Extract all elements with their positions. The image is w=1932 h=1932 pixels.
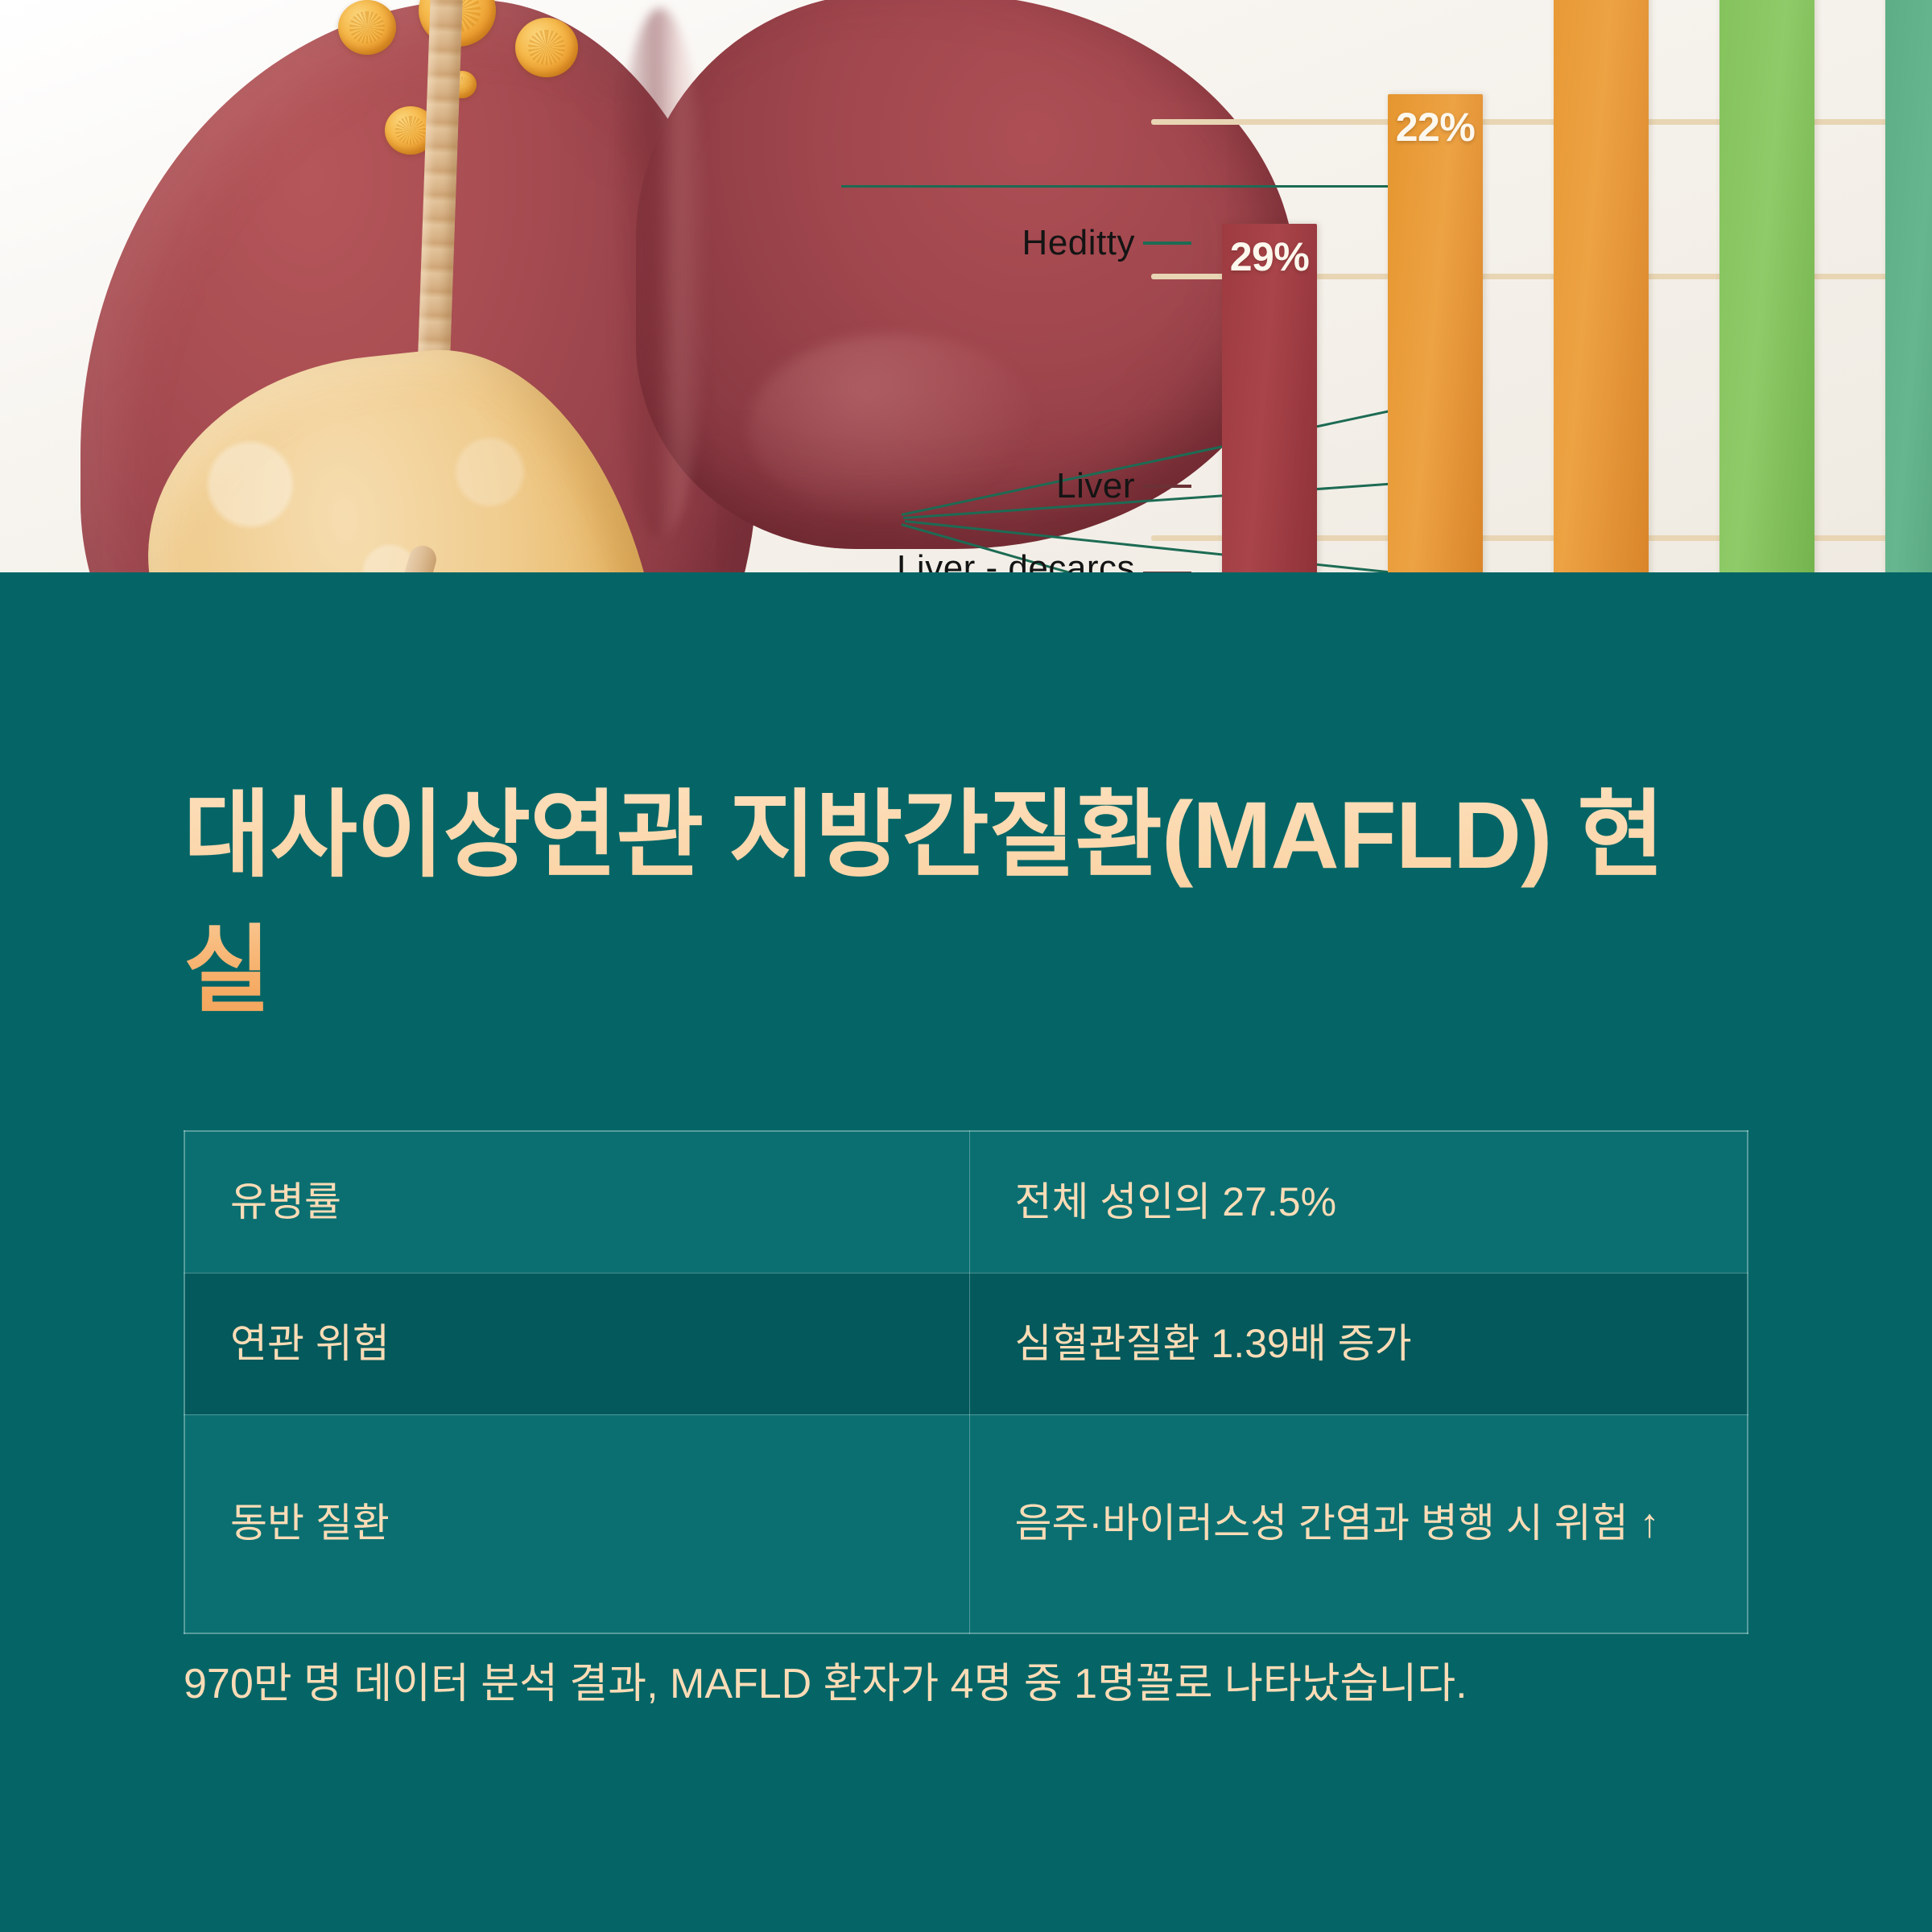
- table-row: 유병률 전체 성인의 27.5%: [184, 1131, 1748, 1273]
- table-cell-value: 음주·바이러스성 간염과 병행 시 위험 ↑: [969, 1414, 1748, 1633]
- page-title: 대사이상연관 지방간질환(MAFLD) 현실: [184, 769, 1713, 1038]
- fat-globule-icon: [515, 18, 578, 77]
- table-cell-value: 전체 성인의 27.5%: [969, 1131, 1748, 1273]
- bar-value-label: 29%: [1222, 233, 1317, 280]
- table-cell-key: 유병률: [184, 1131, 969, 1273]
- chart-bar: 3,%: [1885, 0, 1932, 572]
- chart-bar: 35%: [1719, 0, 1814, 572]
- chart-bar: 29%: [1554, 0, 1649, 572]
- bar-value-label: 22%: [1388, 104, 1483, 151]
- chart-bar: 29%: [1222, 224, 1317, 572]
- chart-bars: 29% 22% 29% 35% 3,%: [966, 0, 1932, 572]
- chart-bar: 22%: [1388, 94, 1483, 572]
- fat-globule-icon: [338, 0, 396, 55]
- chart-plot-area: Heditty Liver Liver - decarcs 29% 22% 29…: [966, 0, 1932, 572]
- slide-root: Heditty Liver Liver - decarcs 29% 22% 29…: [0, 0, 1932, 1932]
- table-cell-value: 심혈관질환 1.39배 증가: [969, 1273, 1748, 1414]
- bar-chart: Heditty Liver Liver - decarcs 29% 22% 29…: [966, 0, 1932, 572]
- hero-illustration: Heditty Liver Liver - decarcs 29% 22% 29…: [0, 0, 1932, 572]
- table-cell-key: 연관 위험: [184, 1273, 969, 1414]
- facts-table: 유병률 전체 성인의 27.5% 연관 위험 심혈관질환 1.39배 증가 동반…: [184, 1130, 1748, 1634]
- table-cell-key: 동반 질환: [184, 1414, 969, 1633]
- summary-caption: 970만 명 데이터 분석 결과, MAFLD 환자가 4명 중 1명꼴로 나타…: [184, 1653, 1794, 1715]
- hero-image-band: Heditty Liver Liver - decarcs 29% 22% 29…: [0, 0, 1932, 572]
- table-row: 동반 질환 음주·바이러스성 간염과 병행 시 위험 ↑: [184, 1414, 1748, 1633]
- table-row: 연관 위험 심혈관질환 1.39배 증가: [184, 1273, 1748, 1414]
